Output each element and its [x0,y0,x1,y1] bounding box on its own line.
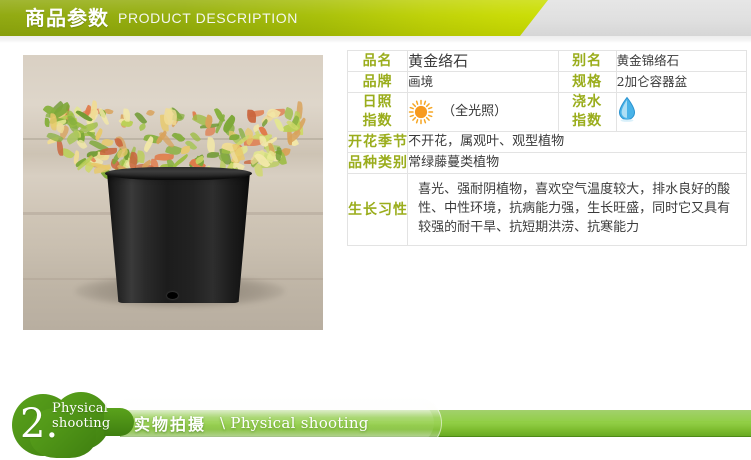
table-row: 品牌 画境 规格 2加仑容器盆 [348,72,747,93]
page-header-banner: 商品参数 PRODUCT DESCRIPTION [0,0,751,38]
leaf [259,136,266,147]
product-spec-table: 品名 黄金络石 别名 黄金锦络石 品牌 画境 规格 2加仑容器盆 日照 指数 [347,50,747,246]
spec-label-sunlight-line1: 日照 [348,93,407,112]
spec-value-growth-habit: 喜光、强耐阴植物，喜欢空气温度较大，排水良好的酸性、中性环境，抗病能力强，生长旺… [408,174,747,246]
banner-title: 实物拍摄 \ Physical shooting [134,410,369,436]
spec-label-alias: 别名 [558,51,616,72]
leaf [181,146,191,155]
pot-drain-hole [167,292,178,299]
spec-label-brand: 品牌 [348,72,408,93]
leaf [100,148,117,155]
table-row: 开花季节 不开花，属观叶、观型植物 [348,132,747,153]
spec-value-watering-index [616,93,746,132]
spec-label-watering-line2: 指数 [559,112,616,131]
badge-caption-line2: shooting [52,416,110,431]
table-row: 生长习性 喜光、强耐阴植物，喜欢空气温度较大，排水良好的酸性、中性环境，抗病能力… [348,174,747,246]
spec-value-brand: 画境 [408,72,558,93]
spec-label-variety-category: 品种类别 [348,153,408,174]
leaf [138,122,147,131]
header-underline [0,36,751,43]
spec-label-watering-line1: 浇水 [559,93,616,112]
leaf [207,151,220,158]
spec-label-specification: 规格 [558,72,616,93]
table-row: 品名 黄金络石 别名 黄金锦络石 [348,51,747,72]
spec-label-product-name: 品名 [348,51,408,72]
page-title-en: PRODUCT DESCRIPTION [118,11,298,25]
spec-value-sunlight-index: （全光照） [408,93,558,132]
section-banner-physical-shooting: 实物拍摄 \ Physical shooting 2. Physical sho… [0,392,751,460]
banner-title-en: \ Physical shooting [220,414,369,432]
nursery-pot [107,172,250,303]
page-title: 商品参数 PRODUCT DESCRIPTION [25,0,298,36]
spec-value-alias: 黄金锦络石 [616,51,746,72]
water-drop-icon [617,111,637,126]
spec-label-flowering-season: 开花季节 [348,132,408,153]
banner-step-badge: 2. Physical shooting [8,392,134,458]
leaf [274,117,285,132]
table-row: 品种类别 常绿藤蔓类植物 [348,153,747,174]
leaf [206,136,216,153]
spec-label-sunlight-line2: 指数 [348,112,407,131]
badge-caption-line1: Physical [52,401,110,416]
badge-caption: Physical shooting [52,401,110,431]
banner-title-cn: 实物拍摄 [134,411,206,435]
leaf [123,109,130,123]
leaf [146,109,155,117]
leaf [205,127,215,136]
table-row: 日照 指数 [348,93,747,132]
leaf [76,138,87,150]
spec-value-specification: 2加仑容器盆 [616,72,746,93]
leaf [174,132,184,143]
spec-value-flowering-season: 不开花，属观叶、观型植物 [408,132,747,153]
spec-value-variety-category: 常绿藤蔓类植物 [408,153,747,174]
leaf [57,140,63,156]
sun-icon [408,99,434,125]
product-photo [23,55,323,330]
spec-label-growth-habit: 生长习性 [348,174,408,246]
leaf [247,110,256,123]
page-title-cn: 商品参数 [25,8,109,28]
spec-label-sunlight-index: 日照 指数 [348,93,408,132]
spec-value-sunlight-note: （全光照） [442,102,507,122]
spec-label-watering-index: 浇水 指数 [558,93,616,132]
spec-value-product-name: 黄金络石 [408,51,558,72]
pot-rim [105,167,252,180]
